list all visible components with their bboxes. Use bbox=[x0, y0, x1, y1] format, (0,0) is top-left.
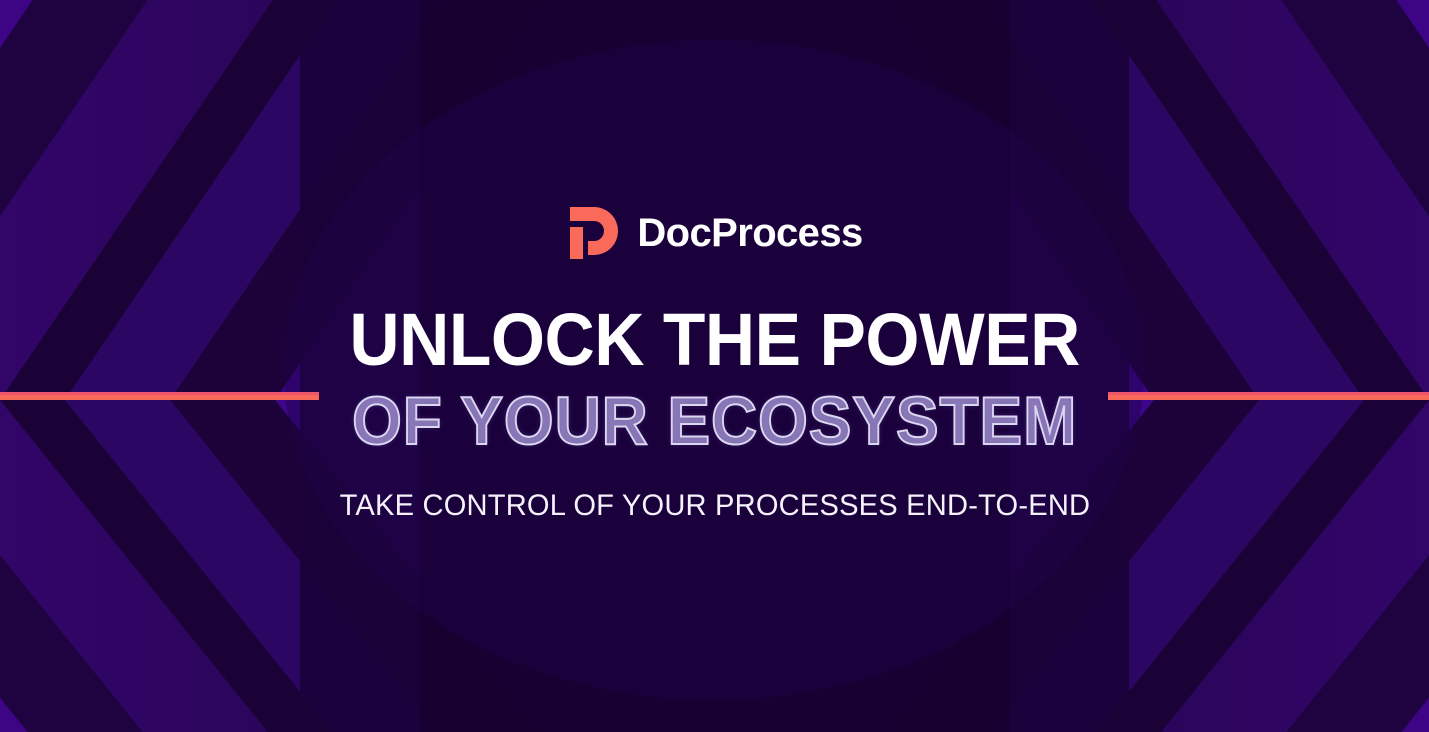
coral-accent-rule-left bbox=[0, 392, 319, 400]
accent-rule-body bbox=[1108, 395, 1429, 400]
coral-accent-rule-right bbox=[1108, 392, 1429, 400]
promo-banner: DocProcess UNLOCK THE POWER OF YOUR ECOS… bbox=[0, 0, 1429, 732]
hero-subtitle: TAKE CONTROL OF YOUR PROCESSES END-TO-EN… bbox=[339, 491, 1090, 521]
headline-primary: UNLOCK THE POWER bbox=[349, 303, 1080, 377]
accent-rule-body bbox=[0, 395, 319, 400]
brand-logo[interactable]: DocProcess bbox=[566, 205, 862, 261]
brand-wordmark: DocProcess bbox=[637, 213, 862, 253]
headline-secondary-outline: OF YOUR ECOSYSTEM bbox=[352, 387, 1077, 455]
docprocess-d-logo-icon bbox=[566, 205, 620, 261]
